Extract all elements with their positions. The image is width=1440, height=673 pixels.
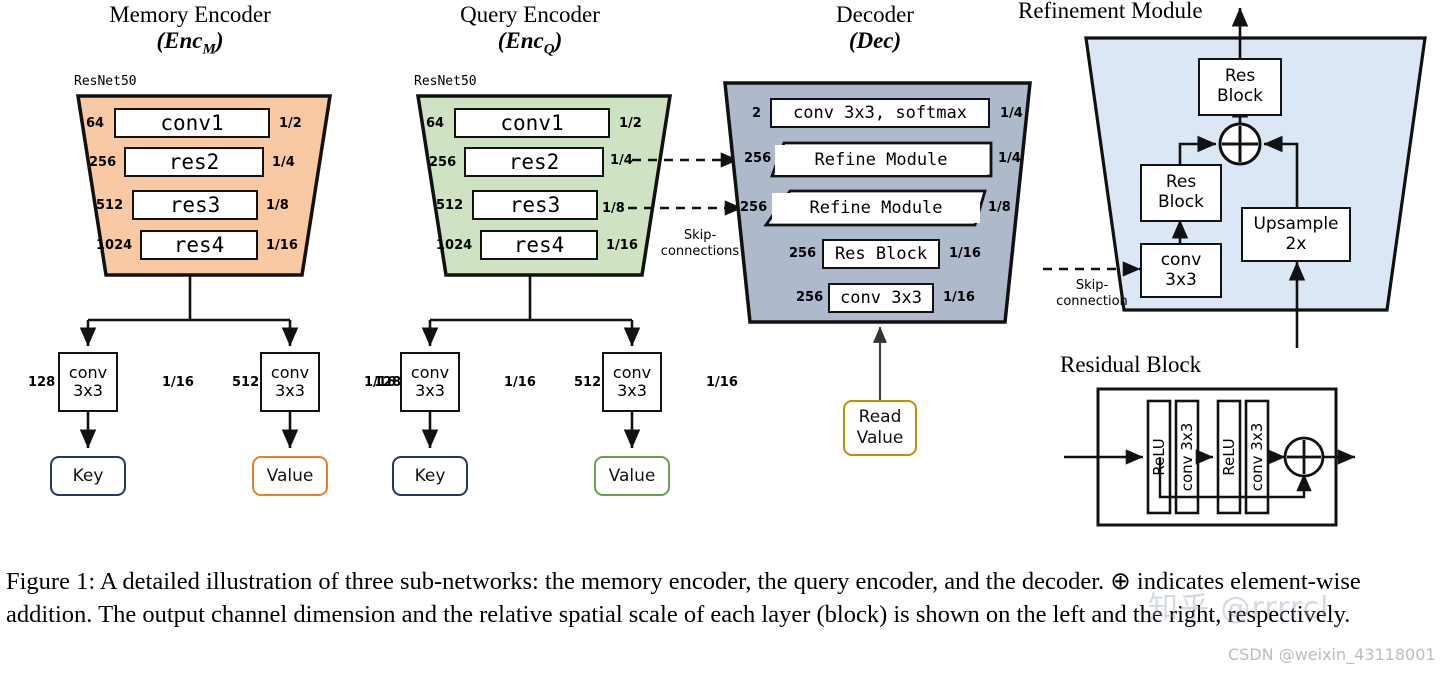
decoder-layer-conv-channels: 256 xyxy=(796,290,823,305)
memory-layer-conv1-scale: 1/2 xyxy=(279,116,302,131)
decoder-read-value-input: Read Value xyxy=(843,400,917,456)
memory-value-output-label: Value xyxy=(267,466,314,486)
memory-value-conv: conv 3x3 xyxy=(260,352,320,412)
memory-layer-res3: res3 xyxy=(132,190,258,220)
memory-encoder-title: Memory Encoder (EncM) xyxy=(70,2,310,59)
query-key-output-label: Key xyxy=(415,466,446,486)
query-layer-conv1-channels: 64 xyxy=(426,116,444,131)
skip-connections-label-line2: connections xyxy=(645,244,755,260)
query-layer-conv1-label: conv1 xyxy=(500,111,563,135)
memory-layer-conv1-channels: 64 xyxy=(86,116,104,131)
refinement-upsample-line1: Upsample xyxy=(1253,215,1338,235)
refinement-upsample-line2: 2x xyxy=(1286,235,1307,255)
query-layer-res4-scale: 1/16 xyxy=(606,238,638,253)
memory-key-scale: 1/16 xyxy=(162,375,194,390)
memory-layer-conv1: conv1 xyxy=(114,108,270,138)
residual-block-title: Residual Block xyxy=(1060,352,1201,378)
memory-key-channels: 128 xyxy=(28,375,55,390)
query-value-conv-line1: conv xyxy=(613,364,651,382)
decoder-layer-res-block: Res Block xyxy=(822,239,940,269)
memory-layer-res4-scale: 1/16 xyxy=(266,238,298,253)
skip-connections-label: Skip- connections xyxy=(645,228,755,259)
memory-value-conv-line1: conv xyxy=(271,364,309,382)
decoder-layer-conv-scale: 1/16 xyxy=(943,290,975,305)
decoder-layer-softmax-label: conv 3x3, softmax xyxy=(793,103,967,123)
refinement-skip-label-line1: Skip- xyxy=(1040,278,1144,294)
skip-connections-label-line1: Skip- xyxy=(645,228,755,244)
refinement-conv-line1: conv xyxy=(1161,251,1202,271)
memory-key-output-label: Key xyxy=(73,466,104,486)
memory-layer-res2-label: res2 xyxy=(169,150,220,174)
decoder-title-symbol: (Dec) xyxy=(760,28,990,54)
memory-value-output: Value xyxy=(252,456,328,496)
memory-key-output: Key xyxy=(50,456,126,496)
memory-encoder-backbone-label: ResNet50 xyxy=(74,74,137,89)
memory-layer-res3-channels: 512 xyxy=(96,198,123,213)
refinement-res-block-top-line1: Res xyxy=(1225,67,1255,87)
refinement-res-block-mid-line2: Block xyxy=(1158,193,1204,213)
residual-conv-1-label: conv 3x3 xyxy=(1178,423,1196,492)
query-layer-res4-channels: 1024 xyxy=(436,238,472,253)
query-layer-res4-label: res4 xyxy=(514,233,565,257)
query-layer-conv1-scale: 1/2 xyxy=(619,116,642,131)
query-value-scale: 1/16 xyxy=(706,375,738,390)
decoder-layer-res-block-label: Res Block xyxy=(835,244,927,264)
refinement-conv-block: conv 3x3 xyxy=(1140,243,1222,298)
refinement-module-title: Refinement Module xyxy=(1018,0,1203,24)
query-layer-res3-label: res3 xyxy=(510,193,561,217)
query-value-conv-line2: 3x3 xyxy=(617,382,647,400)
decoder-refine-module-2-label: Refine Module xyxy=(809,198,942,218)
decoder-layer-softmax: conv 3x3, softmax xyxy=(770,98,990,128)
decoder-refine-module-1: Refine Module xyxy=(775,145,987,175)
memory-layer-res2-channels: 256 xyxy=(89,155,116,170)
memory-layer-res4-channels: 1024 xyxy=(96,238,132,253)
query-key-conv-line2: 3x3 xyxy=(415,382,445,400)
residual-relu-2-label: ReLU xyxy=(1220,438,1238,476)
query-value-output-label: Value xyxy=(609,466,656,486)
refinement-skip-label: Skip- connection xyxy=(1040,278,1144,309)
refinement-res-block-top: Res Block xyxy=(1198,58,1282,116)
refinement-res-block-mid-line1: Res xyxy=(1166,173,1196,193)
query-layer-res4: res4 xyxy=(480,230,598,260)
query-encoder-backbone-label: ResNet50 xyxy=(414,74,477,89)
decoder-refine-module-1-label: Refine Module xyxy=(814,150,947,170)
query-layer-res2-channels: 256 xyxy=(429,155,456,170)
decoder-refine-module-1-scale: 1/4 xyxy=(998,151,1021,166)
memory-key-conv-line2: 3x3 xyxy=(73,382,103,400)
memory-layer-conv1-label: conv1 xyxy=(160,111,223,135)
refinement-res-block-mid: Res Block xyxy=(1140,164,1222,222)
memory-layer-res4-label: res4 xyxy=(174,233,225,257)
query-encoder-title-symbol: (EncQ) xyxy=(410,28,650,59)
read-value-line2: Value xyxy=(857,428,904,449)
decoder-title: Decoder (Dec) xyxy=(760,2,990,54)
memory-value-conv-line2: 3x3 xyxy=(275,382,305,400)
query-layer-res2-label: res2 xyxy=(509,150,560,174)
query-layer-res3: res3 xyxy=(472,190,598,220)
decoder-layer-conv-label: conv 3x3 xyxy=(840,288,922,308)
refinement-add-symbol xyxy=(1220,124,1260,164)
refinement-skip-label-line2: connection xyxy=(1040,294,1144,310)
memory-layer-res3-scale: 1/8 xyxy=(266,198,289,213)
decoder-layer-softmax-scale: 1/4 xyxy=(1000,106,1023,121)
memory-key-conv-line1: conv xyxy=(69,364,107,382)
query-key-scale: 1/16 xyxy=(504,375,536,390)
residual-add-symbol xyxy=(1285,438,1323,476)
query-encoder-title: Query Encoder (EncQ) xyxy=(410,2,650,59)
query-key-channels: 128 xyxy=(374,375,401,390)
read-value-line1: Read xyxy=(859,407,902,428)
memory-value-channels: 512 xyxy=(232,375,259,390)
query-encoder-title-line1: Query Encoder xyxy=(410,2,650,28)
query-layer-res3-channels: 512 xyxy=(436,198,463,213)
figure-canvas: Memory Encoder (EncM) ResNet50 conv1 64 … xyxy=(0,0,1440,673)
memory-layer-res3-label: res3 xyxy=(170,193,221,217)
decoder-refine-module-1-channels: 256 xyxy=(744,151,771,166)
memory-layer-res4: res4 xyxy=(140,230,258,260)
decoder-layer-conv: conv 3x3 xyxy=(828,283,934,313)
query-layer-conv1: conv1 xyxy=(454,108,610,138)
memory-encoder-title-line1: Memory Encoder xyxy=(70,2,310,28)
query-value-conv: conv 3x3 xyxy=(602,352,662,412)
query-key-output: Key xyxy=(392,456,468,496)
decoder-layer-res-block-scale: 1/16 xyxy=(949,246,981,261)
decoder-layer-res-block-channels: 256 xyxy=(789,246,816,261)
query-key-conv: conv 3x3 xyxy=(400,352,460,412)
figure-caption: Figure 1: A detailed illustration of thr… xyxy=(6,565,1438,631)
residual-relu-1-label: ReLU xyxy=(1150,438,1168,476)
query-value-output: Value xyxy=(594,456,670,496)
query-layer-res2: res2 xyxy=(464,147,604,177)
query-key-conv-line1: conv xyxy=(411,364,449,382)
residual-conv-2-label: conv 3x3 xyxy=(1248,423,1266,492)
decoder-layer-softmax-channels: 2 xyxy=(752,106,761,121)
decoder-title-line1: Decoder xyxy=(760,2,990,28)
memory-layer-res2-scale: 1/4 xyxy=(272,155,295,170)
query-layer-res2-scale: 1/4 xyxy=(610,153,633,168)
refinement-upsample-block: Upsample 2x xyxy=(1241,207,1351,262)
decoder-refine-module-2-channels: 256 xyxy=(740,200,767,215)
decoder-refine-module-2: Refine Module xyxy=(772,193,980,223)
query-layer-res3-scale: 1/8 xyxy=(602,201,625,216)
memory-encoder-title-symbol: (EncM) xyxy=(70,28,310,59)
refinement-res-block-top-line2: Block xyxy=(1217,87,1263,107)
decoder-refine-module-2-scale: 1/8 xyxy=(988,200,1011,215)
memory-layer-res2: res2 xyxy=(124,147,264,177)
query-value-channels: 512 xyxy=(574,375,601,390)
refinement-conv-line2: 3x3 xyxy=(1165,271,1197,291)
memory-key-conv: conv 3x3 xyxy=(58,352,118,412)
